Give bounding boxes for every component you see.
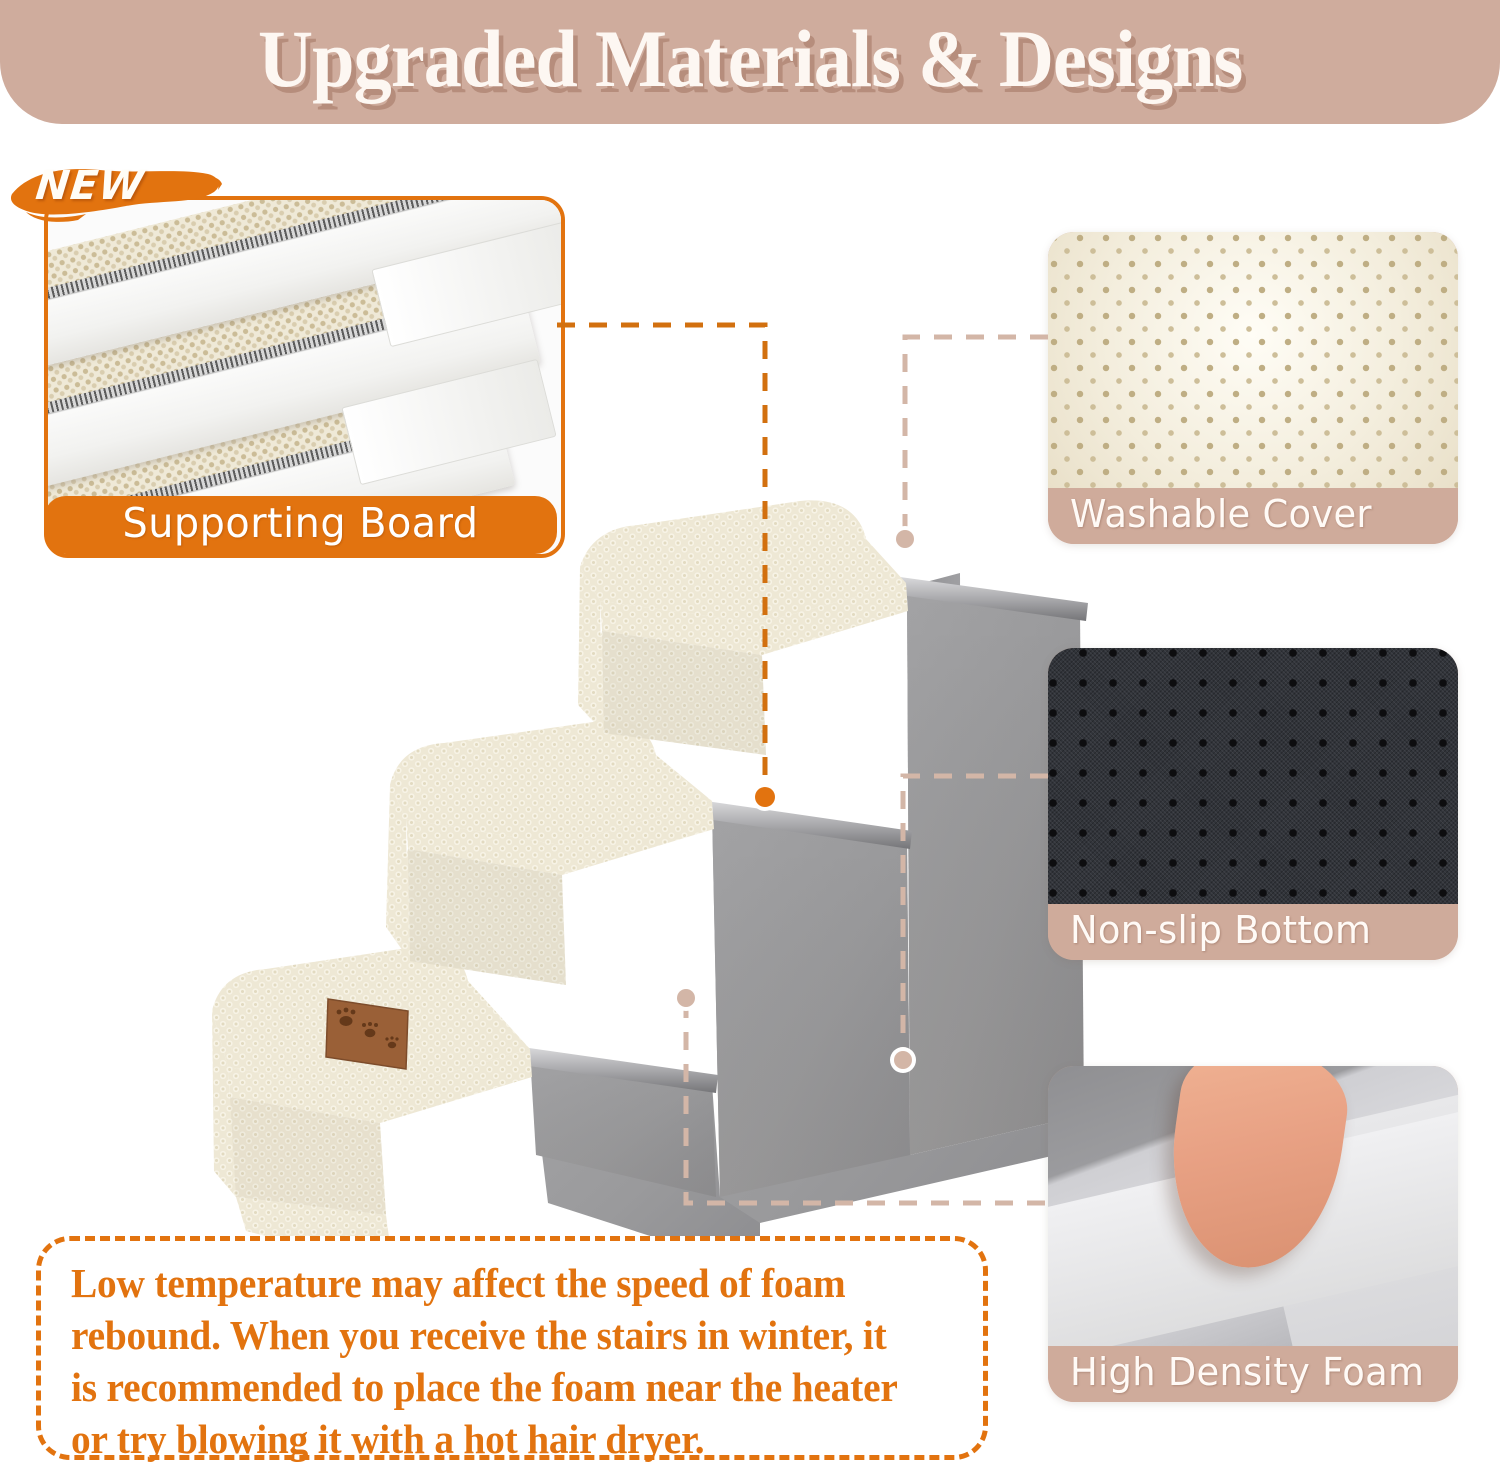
supporting-board-label: Supporting Board [44,496,557,554]
header-banner: Upgraded Materials & Designs [0,0,1500,124]
feature-card-non-slip-bottom: Non-slip Bottom [1048,648,1458,960]
brand-tag [326,999,408,1069]
product-image [200,455,1100,1265]
washable-cover-label: Washable Cover [1070,495,1372,537]
high-density-foam-band: High Density Foam [1048,1346,1458,1402]
warning-text: Low temperature may affect the speed of … [71,1257,918,1465]
supporting-board-label-text: Supporting Board [122,503,478,547]
page-title: Upgraded Materials & Designs [258,18,1242,106]
high-density-foam-label: High Density Foam [1070,1353,1424,1395]
non-slip-bottom-photo [1048,648,1458,904]
high-density-foam-photo [1048,1066,1458,1346]
feature-card-washable-cover: Washable Cover [1048,232,1458,544]
new-badge-label: NEW [34,166,146,206]
warning-box: Low temperature may affect the speed of … [36,1236,988,1460]
washable-cover-band: Washable Cover [1048,488,1458,544]
non-slip-bottom-label: Non-slip Bottom [1070,911,1371,953]
washable-cover-photo [1048,232,1458,488]
non-slip-bottom-band: Non-slip Bottom [1048,904,1458,960]
feature-card-high-density-foam: High Density Foam [1048,1066,1458,1402]
